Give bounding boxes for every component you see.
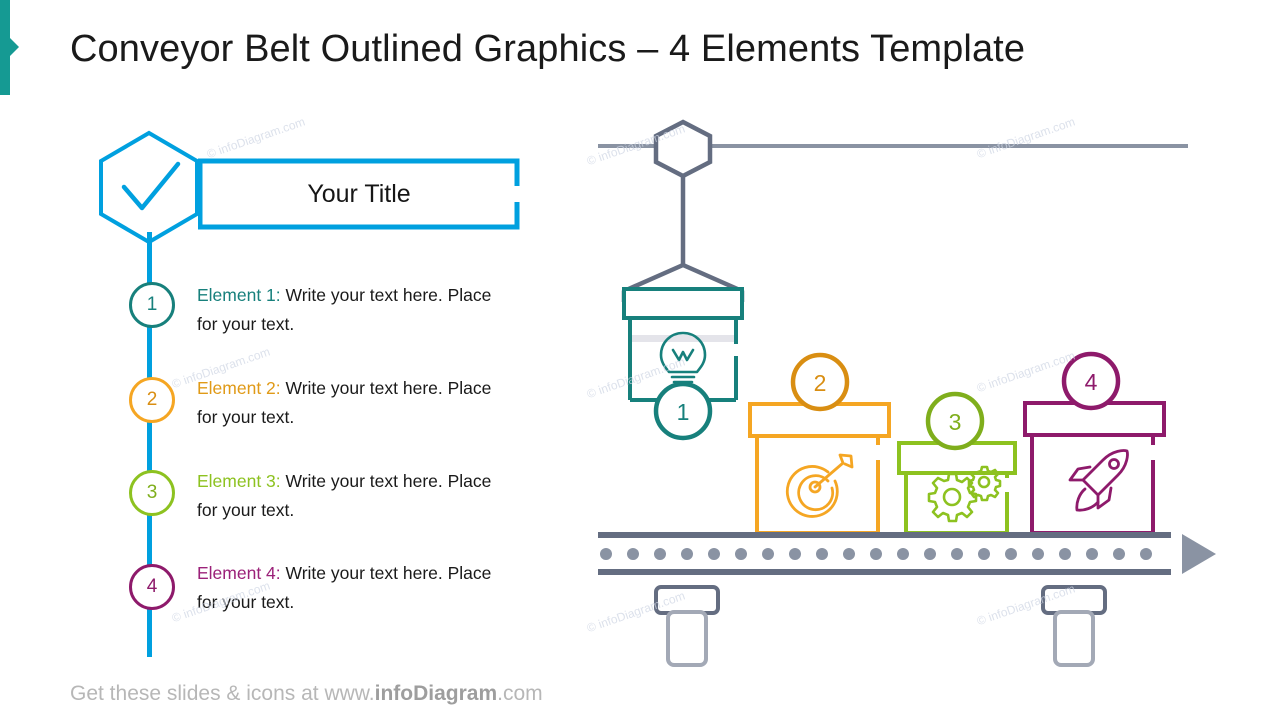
footer-credit: Get these slides & icons at www.infoDiag… xyxy=(70,682,543,706)
box-badge-label-2: 2 xyxy=(814,370,827,396)
gears-icon xyxy=(929,467,1000,521)
belt-leg-1-top xyxy=(656,587,718,613)
box-badge-label-3: 3 xyxy=(949,409,962,435)
footer-pre: Get these slides & icons at www. xyxy=(70,682,375,705)
box-1-shadow xyxy=(628,335,736,342)
slide-canvas: Conveyor Belt Outlined Graphics – 4 Elem… xyxy=(0,0,1280,720)
box-badge-label-4: 4 xyxy=(1085,369,1098,395)
belt-rollers xyxy=(600,548,1152,560)
rocket-icon xyxy=(1070,451,1127,511)
footer-brand: infoDiagram xyxy=(375,682,498,705)
box-1-lid xyxy=(624,289,742,318)
conveyor-belt-graphic: 1 2 3 xyxy=(0,0,1280,720)
hexagon-trolley-icon xyxy=(656,122,710,176)
belt-leg-1-post xyxy=(668,612,706,665)
belt-leg-2-post xyxy=(1055,612,1093,665)
belt-direction-arrow-icon xyxy=(1182,534,1216,574)
footer-post: .com xyxy=(497,682,543,705)
box-badge-label-1: 1 xyxy=(677,399,690,425)
target-arrow-icon xyxy=(787,455,852,516)
belt-leg-2-top xyxy=(1043,587,1105,613)
